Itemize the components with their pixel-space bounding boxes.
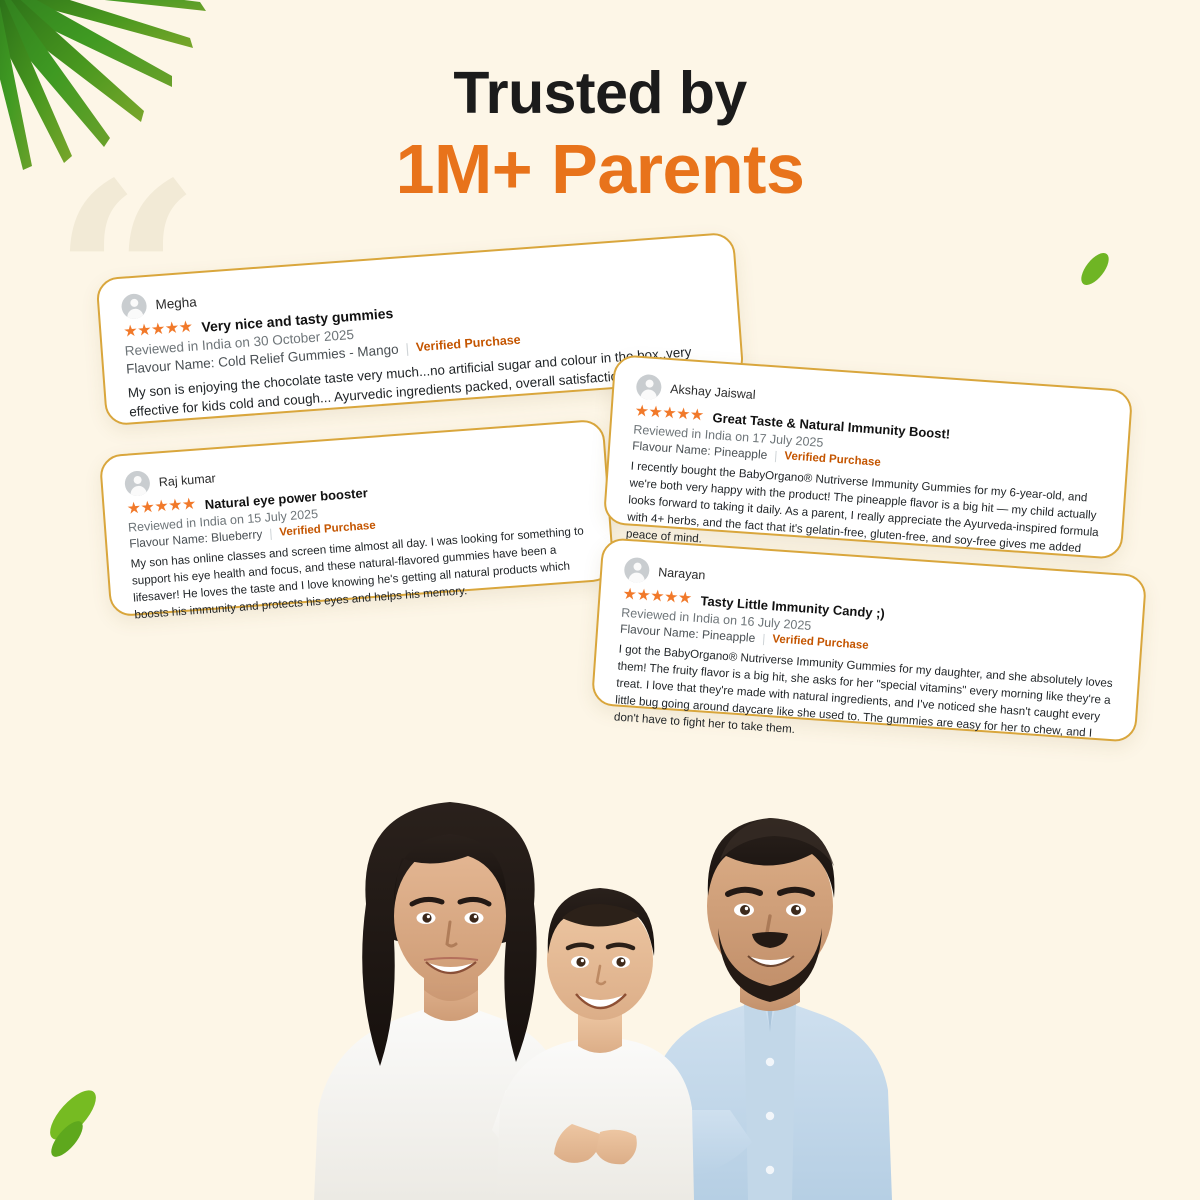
- reviewer-name: Narayan: [658, 565, 706, 582]
- review-card[interactable]: Raj kumar ★★★★★ Natural eye power booste…: [99, 419, 616, 618]
- reviewer-name: Megha: [155, 294, 197, 312]
- family-photo: [300, 690, 920, 1200]
- separator-icon: |: [762, 631, 766, 647]
- leaf-icon: [36, 1078, 110, 1152]
- reviewer-name: Raj kumar: [158, 471, 216, 489]
- leaf-icon: [1072, 246, 1118, 292]
- promo-banner: “ ” Trusted by 1M+ Parents: [0, 0, 1200, 1200]
- leaf-icon: [40, 1112, 94, 1166]
- star-rating-icon: ★★★★★: [634, 404, 704, 425]
- star-rating-icon: ★★★★★: [622, 587, 692, 608]
- review-card[interactable]: Akshay Jaiswal ★★★★★ Great Taste & Natur…: [603, 354, 1134, 560]
- reviewer-name: Akshay Jaiswal: [670, 382, 756, 402]
- separator-icon: |: [774, 448, 778, 464]
- avatar-icon: [623, 557, 650, 584]
- avatar-icon: [124, 470, 151, 497]
- separator-icon: |: [405, 340, 410, 358]
- page-title: Trusted by 1M+ Parents: [0, 62, 1200, 208]
- heading-line-1: Trusted by: [0, 62, 1200, 126]
- avatar-icon: [636, 374, 663, 401]
- heading-line-2: 1M+ Parents: [0, 130, 1200, 208]
- separator-icon: |: [269, 526, 273, 542]
- avatar-icon: [121, 293, 148, 320]
